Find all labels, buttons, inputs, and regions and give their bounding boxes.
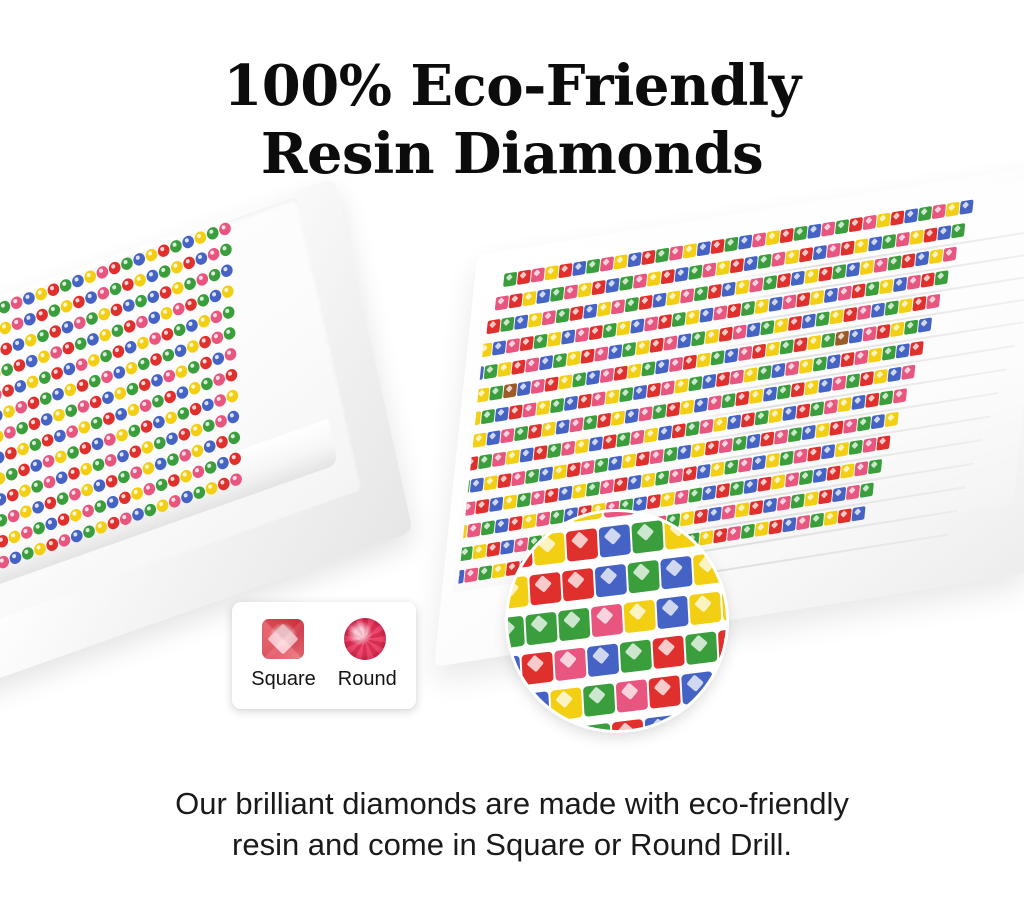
bead xyxy=(616,432,630,447)
bead xyxy=(793,448,807,463)
bead xyxy=(180,489,194,505)
bead xyxy=(175,385,189,401)
bead xyxy=(75,357,89,373)
bead xyxy=(97,306,111,322)
bead xyxy=(467,522,481,537)
bead xyxy=(854,350,868,365)
bead xyxy=(793,337,807,352)
bead xyxy=(688,487,702,502)
bead xyxy=(57,512,71,528)
bead xyxy=(876,324,890,339)
bead xyxy=(206,225,220,241)
bead xyxy=(583,415,597,430)
bead xyxy=(683,466,697,481)
bead xyxy=(539,355,553,370)
bead xyxy=(139,398,153,414)
bead xyxy=(579,723,611,730)
bead xyxy=(699,419,713,434)
bead xyxy=(768,519,782,534)
bead xyxy=(61,340,75,356)
bead xyxy=(716,483,730,498)
bead xyxy=(204,480,218,496)
bead xyxy=(595,564,627,598)
bead xyxy=(910,230,924,245)
bead xyxy=(171,280,185,296)
bead xyxy=(804,380,818,395)
bead xyxy=(672,423,686,438)
bead xyxy=(810,401,824,416)
bead xyxy=(757,254,771,269)
bead xyxy=(633,496,647,511)
bead xyxy=(115,427,129,443)
bead xyxy=(109,302,123,318)
bead xyxy=(550,287,564,302)
bead xyxy=(785,472,799,487)
bead xyxy=(228,451,242,467)
bead xyxy=(699,307,713,322)
bead xyxy=(821,221,835,236)
bead xyxy=(126,402,140,418)
bead xyxy=(54,449,68,465)
bead xyxy=(185,318,199,334)
bead xyxy=(647,494,661,509)
bead xyxy=(744,479,758,494)
bead xyxy=(495,518,509,533)
bead xyxy=(658,425,672,440)
bead xyxy=(813,356,827,371)
square-gem-icon xyxy=(262,619,304,659)
bead xyxy=(484,475,498,490)
bead xyxy=(166,452,180,468)
bead xyxy=(575,439,589,454)
bead xyxy=(674,267,688,282)
bead xyxy=(64,403,78,419)
bead xyxy=(879,390,893,405)
bead xyxy=(802,425,816,440)
bead xyxy=(520,336,534,351)
bead xyxy=(620,639,652,673)
bead xyxy=(934,270,948,285)
bead xyxy=(685,631,717,665)
bead xyxy=(229,472,243,488)
bead xyxy=(807,335,821,350)
bead xyxy=(174,343,188,359)
bead xyxy=(536,400,550,415)
bead xyxy=(158,285,172,301)
bead xyxy=(691,442,705,457)
bead xyxy=(135,314,149,330)
bead xyxy=(782,294,796,309)
bead xyxy=(21,546,35,562)
bead xyxy=(522,402,536,417)
bead xyxy=(216,455,230,471)
bead xyxy=(876,213,890,228)
bead xyxy=(509,404,523,419)
bead xyxy=(24,332,38,348)
bead xyxy=(630,318,644,333)
bead xyxy=(108,260,122,276)
bead xyxy=(592,280,606,295)
bead xyxy=(182,255,196,271)
bead xyxy=(110,323,124,339)
bead xyxy=(771,251,785,266)
bead xyxy=(614,254,628,269)
bead xyxy=(719,438,733,453)
bead xyxy=(746,434,760,449)
bead xyxy=(713,305,727,320)
bead xyxy=(74,336,88,352)
bead xyxy=(735,391,749,406)
bead xyxy=(4,445,18,461)
bead xyxy=(218,221,232,237)
bead xyxy=(887,255,901,270)
bead xyxy=(821,333,835,348)
bead xyxy=(40,412,54,428)
bead xyxy=(151,393,165,409)
bead xyxy=(879,279,893,294)
bead xyxy=(730,369,744,384)
bead xyxy=(616,321,630,336)
bead xyxy=(95,265,109,281)
bead xyxy=(554,647,586,681)
bead xyxy=(503,494,517,509)
bead xyxy=(210,330,224,346)
bead xyxy=(680,400,694,415)
bead xyxy=(890,210,904,225)
bead xyxy=(56,491,70,507)
bead xyxy=(586,370,600,385)
bead xyxy=(75,378,89,394)
bead xyxy=(102,411,116,427)
bead xyxy=(724,237,738,252)
bead xyxy=(799,470,813,485)
bead xyxy=(697,352,711,367)
bead xyxy=(749,277,763,292)
bead xyxy=(550,398,564,413)
bead xyxy=(130,486,144,502)
bead xyxy=(777,384,791,399)
bead xyxy=(677,333,691,348)
bead xyxy=(183,276,197,292)
bead xyxy=(124,339,138,355)
bead xyxy=(201,397,215,413)
square-drill-closeup xyxy=(508,512,726,730)
bead xyxy=(722,587,726,621)
bead xyxy=(33,541,47,557)
bead xyxy=(1,383,15,399)
bead xyxy=(200,376,214,392)
bead xyxy=(677,711,709,730)
bead xyxy=(162,368,176,384)
bead xyxy=(7,529,21,545)
bead xyxy=(150,373,164,389)
bead xyxy=(49,345,63,361)
bead xyxy=(570,512,602,522)
bead xyxy=(98,327,112,343)
bead xyxy=(503,383,517,398)
bead xyxy=(5,466,19,482)
bead xyxy=(959,199,973,214)
bead xyxy=(771,474,785,489)
bead xyxy=(796,292,810,307)
bead xyxy=(79,461,93,477)
bead xyxy=(17,462,31,478)
bead xyxy=(545,265,559,280)
square-label: Square xyxy=(251,668,316,691)
bead xyxy=(87,352,101,368)
bead xyxy=(918,317,932,332)
bead xyxy=(799,247,813,262)
bead xyxy=(666,290,680,305)
bead xyxy=(564,396,578,411)
bead xyxy=(134,293,148,309)
bead xyxy=(860,260,874,275)
bead xyxy=(630,430,644,445)
bead xyxy=(694,397,708,412)
bead xyxy=(865,393,879,408)
bead xyxy=(38,370,52,386)
bead xyxy=(594,458,608,473)
bead xyxy=(83,269,97,285)
bead xyxy=(727,526,741,541)
bead xyxy=(226,409,240,425)
bead xyxy=(832,264,846,279)
bead xyxy=(591,391,605,406)
bead xyxy=(578,282,592,297)
bead xyxy=(721,393,735,408)
bead xyxy=(167,473,181,489)
bead xyxy=(529,572,561,606)
bead xyxy=(656,596,688,630)
bead xyxy=(45,537,59,553)
bead xyxy=(818,378,832,393)
bead xyxy=(89,394,103,410)
bead xyxy=(155,498,169,514)
bead xyxy=(829,420,843,435)
bead xyxy=(514,426,528,441)
bead xyxy=(3,425,17,441)
bead xyxy=(121,277,135,293)
bead xyxy=(492,563,506,578)
bead xyxy=(176,406,190,422)
bead xyxy=(896,343,910,358)
bead xyxy=(788,427,802,442)
bead xyxy=(669,468,683,483)
bead xyxy=(732,436,746,451)
bead xyxy=(533,532,565,566)
bead xyxy=(843,418,857,433)
bead xyxy=(846,485,860,500)
bead xyxy=(849,440,863,455)
bead xyxy=(727,414,741,429)
bead xyxy=(561,441,575,456)
bead xyxy=(835,442,849,457)
bead xyxy=(766,341,780,356)
bead xyxy=(627,363,641,378)
bead xyxy=(59,278,73,294)
bead xyxy=(932,204,946,219)
bead xyxy=(664,516,696,550)
bead xyxy=(558,486,572,501)
bead xyxy=(92,478,106,494)
bead xyxy=(589,325,603,340)
bead xyxy=(158,264,172,280)
bead xyxy=(688,265,702,280)
bead xyxy=(224,367,238,383)
bead xyxy=(619,387,633,402)
bead xyxy=(51,386,65,402)
closeup-bead-field xyxy=(508,512,726,730)
bead xyxy=(2,404,16,420)
bead xyxy=(484,364,498,379)
bead xyxy=(35,307,49,323)
bead xyxy=(106,494,120,510)
bead xyxy=(170,259,184,275)
bead xyxy=(537,512,569,526)
bead xyxy=(80,482,94,498)
bead xyxy=(587,643,619,677)
bead xyxy=(677,445,691,460)
bead xyxy=(195,272,209,288)
bead xyxy=(652,635,684,669)
bead xyxy=(619,276,633,291)
bead xyxy=(755,410,769,425)
bead xyxy=(131,507,145,523)
bead xyxy=(85,311,99,327)
bead xyxy=(53,428,67,444)
bead xyxy=(730,481,744,496)
bead xyxy=(724,348,738,363)
bead xyxy=(188,380,202,396)
bead xyxy=(755,299,769,314)
bead xyxy=(73,315,87,331)
bead xyxy=(492,452,506,467)
bead xyxy=(159,305,173,321)
bead xyxy=(149,352,163,368)
bead xyxy=(813,468,827,483)
bead xyxy=(583,304,597,319)
bead xyxy=(603,434,617,449)
bead xyxy=(544,488,558,503)
bead xyxy=(718,627,726,661)
bead xyxy=(832,487,846,502)
bead xyxy=(489,497,503,512)
bead xyxy=(72,294,86,310)
bead xyxy=(52,407,66,423)
bead xyxy=(525,612,557,646)
bead xyxy=(672,312,686,327)
round-drill-tray xyxy=(0,258,388,618)
bead xyxy=(591,604,623,638)
bead xyxy=(105,473,119,489)
bead xyxy=(71,273,85,289)
bead xyxy=(531,379,545,394)
bead xyxy=(153,435,167,451)
bead xyxy=(178,447,192,463)
bead xyxy=(885,412,899,427)
bead xyxy=(539,466,553,481)
bead xyxy=(76,399,90,415)
page-title: 100% Eco-Friendly Resin Diamonds xyxy=(0,52,1024,188)
bead xyxy=(614,477,628,492)
bead xyxy=(29,458,43,474)
bead xyxy=(481,520,495,535)
bead xyxy=(650,338,664,353)
bead xyxy=(93,499,107,515)
bead xyxy=(181,234,195,250)
bead xyxy=(683,243,697,258)
bead xyxy=(173,322,187,338)
bead xyxy=(25,353,39,369)
bead xyxy=(142,481,156,497)
bead xyxy=(57,533,71,549)
bead xyxy=(15,420,29,436)
bead xyxy=(710,350,724,365)
bead xyxy=(605,389,619,404)
bead xyxy=(67,466,81,482)
bead xyxy=(14,399,28,415)
bead xyxy=(937,225,951,240)
bead xyxy=(635,512,667,514)
bead xyxy=(749,500,763,515)
bead xyxy=(702,262,716,277)
bead xyxy=(705,329,719,344)
bead xyxy=(741,412,755,427)
bead xyxy=(766,453,780,468)
bead xyxy=(525,357,539,372)
bead xyxy=(564,284,578,299)
bead xyxy=(580,349,594,364)
bead xyxy=(125,381,139,397)
bead xyxy=(208,267,222,283)
bead xyxy=(661,492,675,507)
bead xyxy=(796,515,810,530)
bead xyxy=(8,550,22,566)
bead xyxy=(562,568,594,602)
bead xyxy=(511,359,525,374)
bead xyxy=(697,464,711,479)
bead xyxy=(132,252,146,268)
bead xyxy=(558,374,572,389)
bead xyxy=(11,337,25,353)
bead xyxy=(553,464,567,479)
bead xyxy=(733,324,747,339)
bead xyxy=(804,268,818,283)
bead xyxy=(77,419,91,435)
bead xyxy=(849,328,863,343)
bead xyxy=(225,388,239,404)
bead xyxy=(904,208,918,223)
bead xyxy=(508,655,521,689)
bead xyxy=(550,687,582,721)
bead xyxy=(561,329,575,344)
bead xyxy=(189,422,203,438)
bead xyxy=(661,380,675,395)
bead xyxy=(90,415,104,431)
bead xyxy=(660,556,692,590)
bead xyxy=(702,374,716,389)
bead xyxy=(824,288,838,303)
bead xyxy=(553,353,567,368)
bead xyxy=(473,544,487,559)
bead xyxy=(874,258,888,273)
bead xyxy=(689,592,721,626)
bead xyxy=(608,344,622,359)
bead xyxy=(843,307,857,322)
bead xyxy=(46,282,60,298)
bead xyxy=(644,428,658,443)
bead xyxy=(13,378,27,394)
